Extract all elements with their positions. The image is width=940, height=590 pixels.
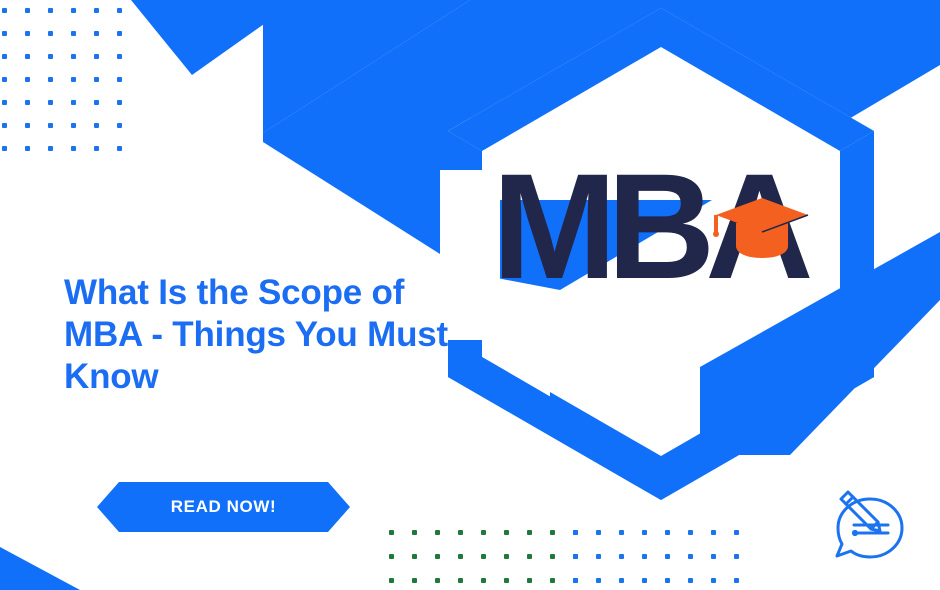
pencil-tip [871, 522, 880, 531]
pencil-body [841, 492, 878, 529]
bubble-dot [853, 531, 856, 534]
bottom-left-triangle [0, 547, 80, 590]
mba-logo: MBA [492, 150, 842, 310]
page-title: What Is the Scope of MBA - Things You Mu… [64, 272, 484, 398]
read-now-button[interactable]: READ NOW! [97, 482, 350, 532]
read-now-label: READ NOW! [171, 497, 277, 517]
speech-bubble-pencil-icon [826, 487, 914, 569]
mba-scope-banner: MBA What Is the Scope of MBA - Things Yo… [0, 0, 940, 590]
